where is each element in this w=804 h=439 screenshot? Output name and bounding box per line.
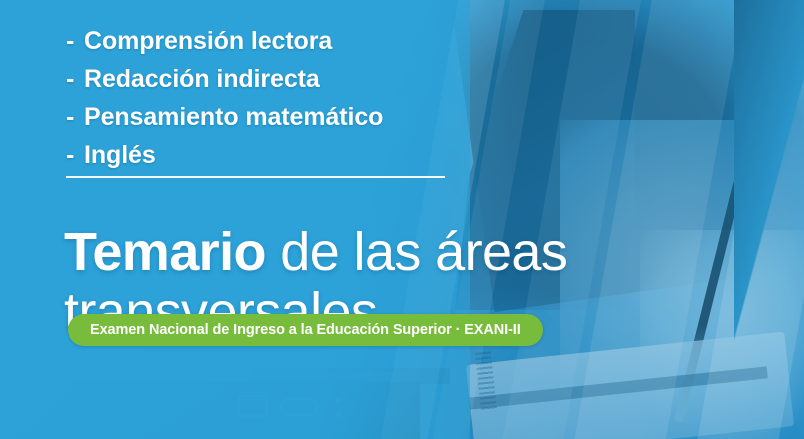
status-badge-label: Examen Nacional de Ingreso a la Educació… xyxy=(90,322,521,338)
dash-icon: - xyxy=(66,22,84,60)
bullet-label: Pensamiento matemático xyxy=(84,103,383,131)
exani-temario-banner: -Comprensión lectora -Redacción indirect… xyxy=(0,0,804,439)
bullet-item-pensamiento-matematico: -Pensamiento matemático xyxy=(66,98,383,136)
dash-icon: - xyxy=(66,98,84,136)
bullet-item-redaccion-indirecta: -Redacción indirecta xyxy=(66,60,383,98)
horizontal-divider xyxy=(66,176,445,178)
bullet-item-ingles: -Inglés xyxy=(66,136,383,174)
bullet-label: Inglés xyxy=(84,141,156,169)
banner-content: -Comprensión lectora -Redacción indirect… xyxy=(0,0,804,439)
subject-bullet-list: -Comprensión lectora -Redacción indirect… xyxy=(66,22,383,174)
status-badge: Examen Nacional de Ingreso a la Educació… xyxy=(68,314,543,346)
bullet-item-comprension-lectora: -Comprensión lectora xyxy=(66,22,383,60)
bullet-label: Comprensión lectora xyxy=(84,27,332,55)
bullet-label: Redacción indirecta xyxy=(84,65,320,93)
dash-icon: - xyxy=(66,136,84,174)
page-title-strong: Temario xyxy=(64,222,266,282)
dash-icon: - xyxy=(66,60,84,98)
